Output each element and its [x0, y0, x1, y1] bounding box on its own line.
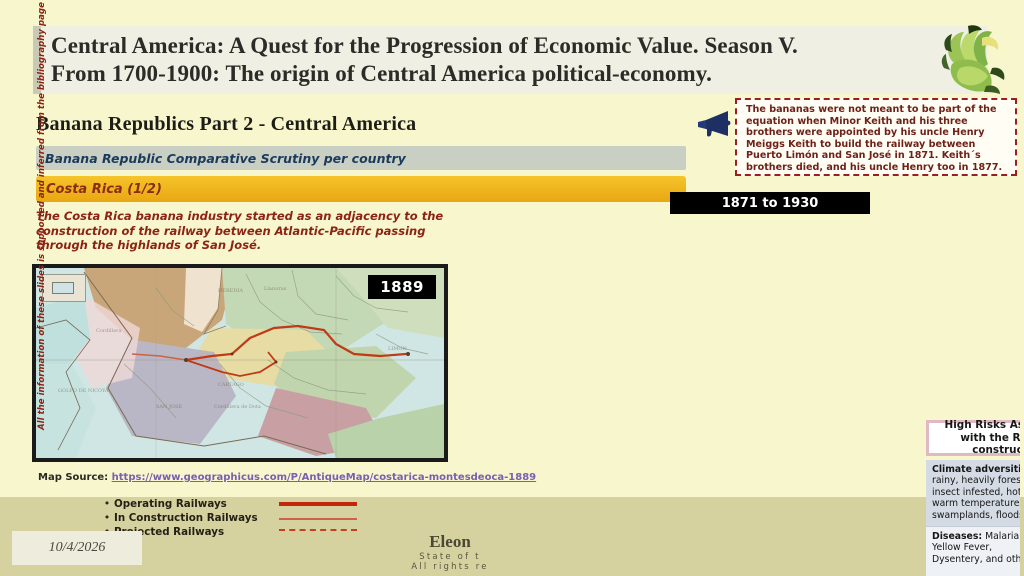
subtitle-bar-label: Banana Republic Comparative Scrutiny per… [36, 151, 406, 166]
svg-text:Llanuras: Llanuras [264, 286, 287, 292]
legend-swatch-in-construction [279, 518, 357, 520]
callout-box: The bananas were not meant to be part of… [735, 98, 1017, 176]
legend-label: In Construction Railways [114, 512, 279, 524]
title-line-2: From 1700-1900: The origin of Central Am… [51, 60, 798, 88]
svg-text:HEREDIA: HEREDIA [218, 288, 243, 294]
legend-item-in-construction: • In Construction Railways [100, 511, 420, 524]
side-note: All the information of these slides is s… [37, 160, 47, 430]
subtitle-bar: Banana Republic Comparative Scrutiny per… [36, 146, 686, 170]
risk-text: rainy, heavily forested, insect infested… [932, 475, 1020, 520]
banana-cluster-icon [938, 24, 1012, 100]
svg-text:CARTAGO: CARTAGO [218, 382, 244, 388]
bullet-icon: • [100, 511, 114, 524]
table-row: Climate adversities: rainy, heavily fore… [926, 460, 1020, 527]
svg-text:Cordillera de Dota: Cordillera de Dota [214, 404, 261, 410]
legend-item-operating: • Operating Railways [100, 497, 420, 510]
svg-text:LIMON: LIMON [388, 346, 408, 352]
page-title: Central America: A Quest for the Progres… [33, 32, 798, 88]
svg-text:Cordillera: Cordillera [96, 328, 122, 334]
map-inset-thumbnail [42, 274, 86, 302]
cell-risk: Diseases: Malaria, Yellow Fever, Dysente… [926, 527, 1020, 576]
svg-text:GOLFO DE NICOYA: GOLFO DE NICOYA [58, 388, 109, 394]
historic-map: Cordillera HEREDIA CARTAGO SAN JOSE LIMO… [32, 264, 448, 462]
matrix-table: Climate adversities: rainy, heavily fore… [926, 460, 1020, 576]
country-bar-label: Costa Rica (1/2) [36, 182, 162, 197]
risk-title: Climate adversities: [932, 464, 1020, 475]
matrix-header-row: High Risks Associated with the Railway c… [926, 420, 1020, 456]
slide-title-band: Central America: A Quest for the Progres… [33, 26, 988, 94]
date-chip: 10/4/2026 [12, 531, 142, 565]
cell-risk: Climate adversities: rainy, heavily fore… [926, 460, 1020, 527]
comparison-matrix: High Risks Associated with the Railway c… [926, 420, 1020, 576]
megaphone-icon [694, 108, 734, 138]
matrix-header-risks: High Risks Associated with the Railway c… [926, 420, 1020, 456]
legend-label: Operating Railways [114, 498, 279, 510]
map-source-line: Map Source: https://www.geographicus.com… [38, 472, 536, 483]
country-bar: Costa Rica (1/2) [36, 176, 686, 202]
matrix-clip: High Risks Associated with the Railway c… [463, 210, 1020, 576]
svg-text:SAN JOSE: SAN JOSE [156, 404, 183, 410]
intro-paragraph: The Costa Rica banana industry started a… [36, 209, 456, 253]
section-heading: Banana Republics Part 2 - Central Americ… [36, 113, 416, 136]
callout-text: The bananas were not meant to be part of… [746, 104, 1007, 174]
title-line-1: Central America: A Quest for the Progres… [51, 33, 798, 58]
legend-swatch-operating [279, 502, 357, 506]
map-year-badge: 1889 [368, 275, 436, 299]
table-row: Diseases: Malaria, Yellow Fever, Dysente… [926, 527, 1020, 576]
risk-title: Diseases: [932, 531, 982, 542]
bullet-icon: • [100, 497, 114, 510]
map-source-label: Map Source: [38, 472, 108, 483]
